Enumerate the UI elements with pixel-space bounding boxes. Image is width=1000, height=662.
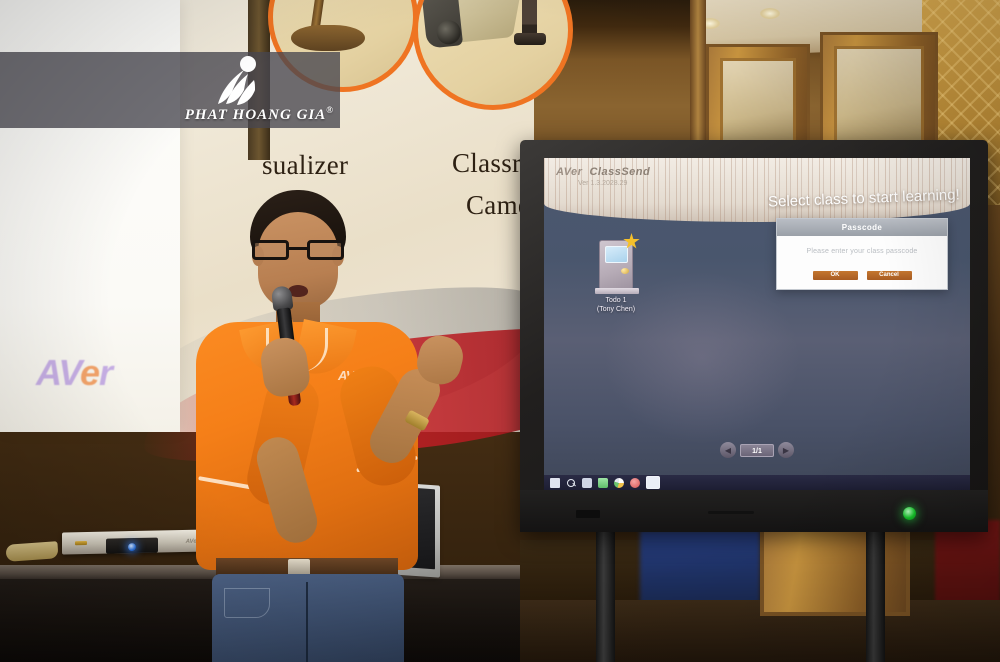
- jeans-seam: [306, 582, 308, 662]
- classsend-name: ClassSend: [589, 166, 650, 178]
- visualizer-base: [291, 25, 365, 51]
- page-next-button[interactable]: ▶: [778, 442, 794, 458]
- task-view-icon[interactable]: [582, 478, 592, 488]
- page-navigation: ◀ 1/1 ▶: [720, 442, 794, 458]
- presenter: AVer: [170, 190, 480, 662]
- class-label-line2: (Tony Chen): [588, 305, 644, 314]
- presenter-eyeglasses: [252, 240, 344, 260]
- aver-logo-part-e: e: [80, 352, 99, 393]
- tv-stand-column-left: [596, 530, 615, 662]
- app-icon[interactable]: [630, 478, 640, 488]
- eyeglasses-on-table: [5, 541, 58, 562]
- class-icon-label: Todo 1 (Tony Chen): [588, 296, 644, 314]
- ceiling-light: [760, 8, 780, 19]
- tv-screen[interactable]: AVerClassSend Ver 1.3.2028.29 Select cla…: [544, 158, 970, 490]
- class-door-icon-item[interactable]: Todo 1 (Tony Chen): [588, 240, 644, 314]
- tv-stand-column-right: [866, 530, 885, 662]
- door-with-star-icon: [599, 240, 633, 290]
- interactive-flat-panel-display: AVerClassSend Ver 1.3.2028.29 Select cla…: [520, 140, 988, 532]
- search-icon[interactable]: [566, 478, 576, 488]
- ir-receiver: [576, 510, 600, 518]
- jeans-pocket: [224, 588, 270, 618]
- camera-lens: [436, 19, 462, 45]
- classsend-brand: AVer: [556, 166, 582, 178]
- passcode-dialog-body: Please enter your class passcode OK Canc…: [777, 236, 947, 289]
- classsend-app-title: AVerClassSend: [556, 166, 650, 178]
- passcode-dialog-message: Please enter your class passcode: [785, 248, 939, 255]
- aver-logo-projected: AVer: [36, 352, 112, 394]
- codec-port: [75, 541, 87, 545]
- presentation-photo-scene: sualizer Classr Came AVer PHAT HOANG GIA…: [0, 0, 1000, 662]
- eyeglass-lens-left: [252, 240, 289, 260]
- windows-taskbar: [544, 475, 970, 490]
- browser-icon[interactable]: [614, 478, 624, 488]
- door-sill: [595, 288, 639, 294]
- page-counter: 1/1: [740, 444, 774, 457]
- sail-wave-logo-icon: [210, 56, 262, 110]
- wood-wall-panel: [760, 520, 910, 616]
- door-window: [605, 246, 628, 263]
- door-knob: [621, 268, 629, 274]
- class-label-line1: Todo 1: [588, 296, 644, 305]
- camera-microphone-base: [514, 33, 546, 45]
- passcode-dialog[interactable]: Passcode Please enter your class passcod…: [776, 218, 948, 290]
- active-window-icon[interactable]: [646, 476, 660, 489]
- classsend-version: Ver 1.3.2028.29: [578, 180, 627, 187]
- watermark-overlay: PHAT HOANG GIA®: [0, 52, 340, 128]
- file-explorer-icon[interactable]: [598, 478, 608, 488]
- passcode-dialog-buttons: OK Cancel: [785, 271, 939, 280]
- aver-logo-part-av: AV: [36, 352, 80, 393]
- backdrop-label-classroom: Classr: [452, 148, 521, 179]
- cancel-button[interactable]: Cancel: [867, 271, 912, 280]
- speaker-slit: [708, 511, 754, 514]
- page-prev-button[interactable]: ◀: [720, 442, 736, 458]
- camera-lens-housing: [421, 0, 463, 49]
- power-led: [903, 507, 916, 520]
- tv-lower-bezel: [520, 490, 988, 532]
- start-icon[interactable]: [550, 478, 560, 488]
- eyeglass-lens-right: [307, 240, 344, 260]
- backdrop-label-visualizer: sualizer: [262, 150, 348, 181]
- passcode-dialog-title: Passcode: [777, 219, 947, 236]
- ok-button[interactable]: OK: [813, 271, 858, 280]
- camera-microphone-array: [522, 0, 537, 37]
- eyeglass-bridge: [289, 247, 307, 250]
- aver-logo-part-r: r: [99, 352, 112, 393]
- registered-mark: ®: [326, 105, 334, 115]
